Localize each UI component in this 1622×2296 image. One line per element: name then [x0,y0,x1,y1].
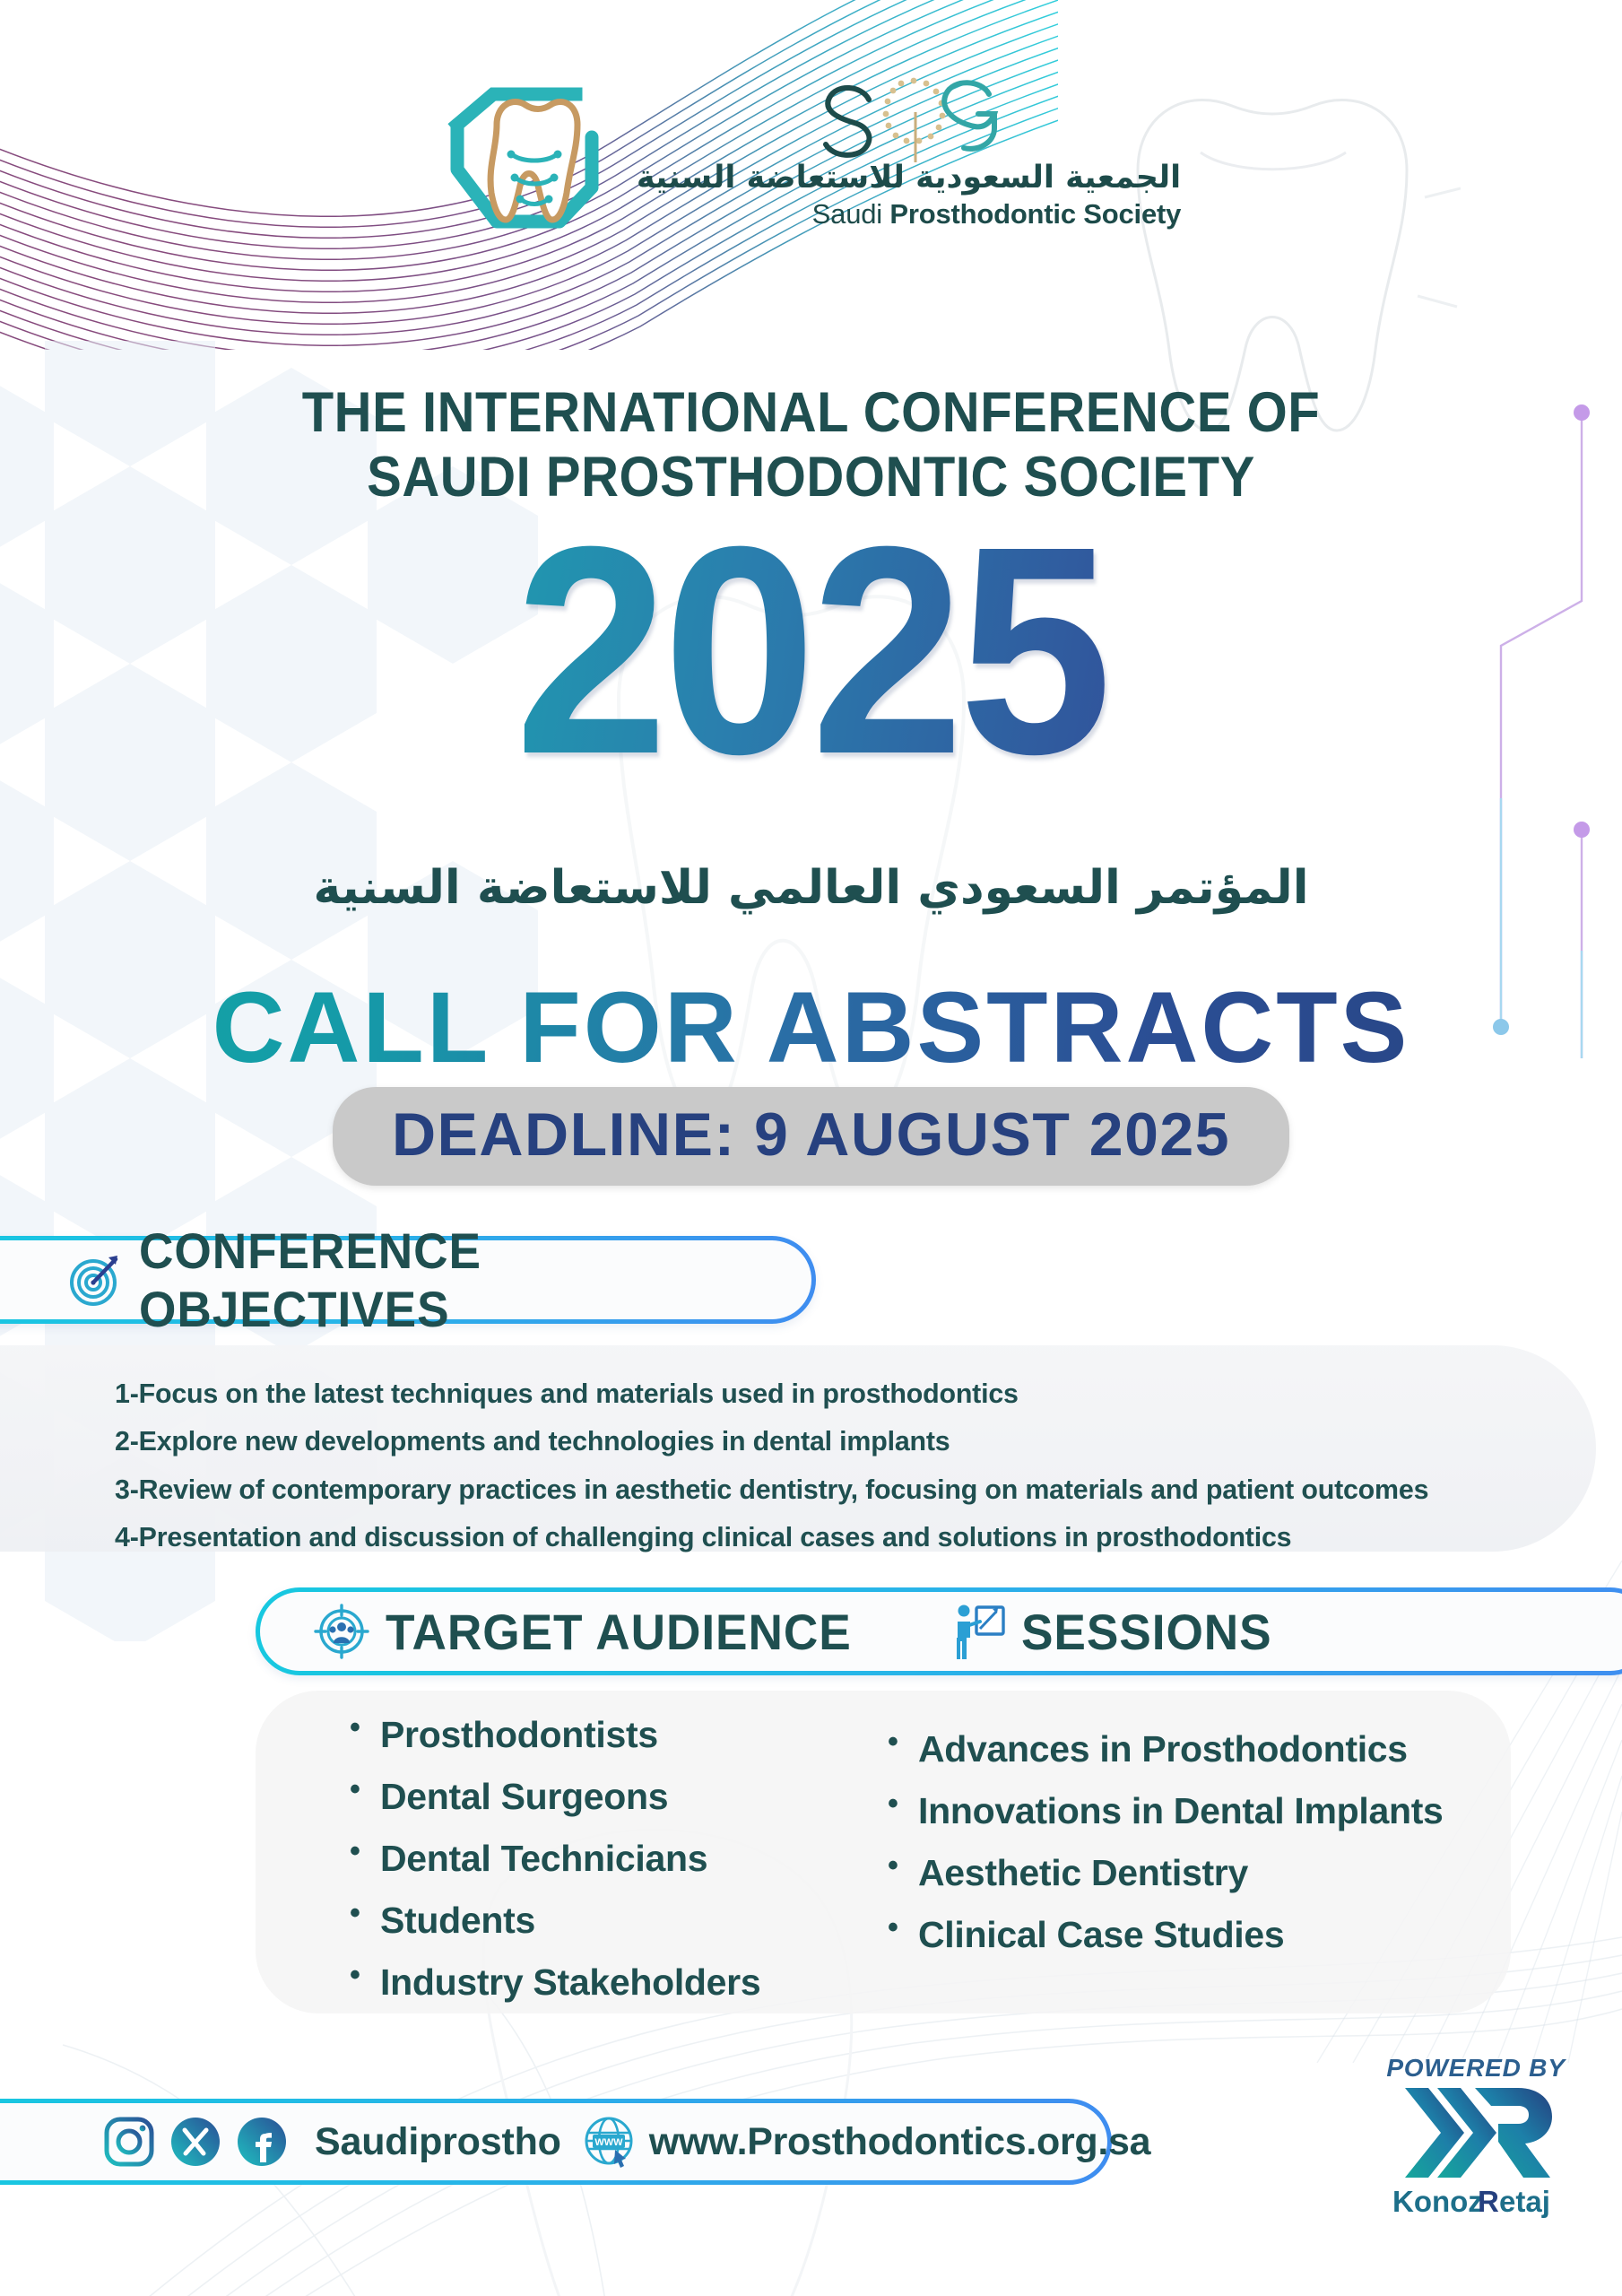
target-dart-icon [67,1252,123,1308]
www-globe-icon[interactable]: WWW [581,2114,637,2170]
deadline-wrap: DEADLINE: 9 AUGUST 2025 [0,1087,1622,1186]
svg-text:R: R [1478,2185,1499,2218]
objective-item: 3-Review of contemporary practices in ae… [115,1465,1521,1513]
audience-item: Students [350,1890,870,1952]
objectives-heading: CONFERENCE OBJECTIVES [139,1222,778,1338]
audience-item: Dental Surgeons [350,1766,870,1828]
objectives-list: 1-Focus on the latest techniques and mat… [115,1370,1549,1561]
session-item: Advances in Prosthodontics [888,1718,1551,1780]
logo-english-light: Saudi [812,198,890,230]
target-audience-list: Prosthodontists Dental Surgeons Dental T… [296,1704,870,2013]
konoz-retaj-chevron-r-icon [1398,2084,1555,2181]
conference-objectives-header: CONFERENCE OBJECTIVES [0,1236,816,1324]
sessions-list: Advances in Prosthodontics Innovations i… [870,1704,1551,2013]
logo-arabic-name: الجمعية السعودية للاستعاضة السنية [637,161,1181,196]
svg-text:WWW: WWW [594,2137,623,2148]
objective-item: 1-Focus on the latest techniques and mat… [115,1370,1521,1417]
deadline-badge: DEADLINE: 9 AUGUST 2025 [333,1087,1289,1186]
powered-by-block: POWERED BY Konoz R etaj [1382,2054,1570,2221]
audience-item: Prosthodontists [350,1704,870,1766]
x-twitter-icon[interactable] [169,2116,221,2168]
call-for-abstracts-heading: CALL FOR ABSTRACTS [0,978,1622,1078]
audience-sessions-header: TARGET AUDIENCE SESSIONS [256,1587,1622,1675]
footer-contact-bar: Saudiprostho WWW www.Prosthodontics.org.… [0,2099,1112,2185]
poster-canvas: الجمعية السعودية للاستعاضة السنية Saudi … [0,0,1622,2296]
logo-english-bold: Prosthodontic Society [889,198,1181,230]
sessions-heading: SESSIONS [1021,1603,1272,1661]
konoz-retaj-wordmark: Konoz R etaj [1391,2181,1561,2221]
audience-sessions-columns: Prosthodontists Dental Surgeons Dental T… [296,1704,1569,2013]
svg-text:etaj: etaj [1499,2185,1550,2218]
logo-english-name: Saudi Prosthodontic Society [812,197,1182,230]
session-item: Clinical Case Studies [888,1904,1551,1966]
target-people-icon [314,1604,369,1659]
tooth-shield-logo-icon [441,69,629,239]
audience-item: Dental Technicians [350,1828,870,1890]
powered-by-label: POWERED BY [1382,2054,1570,2083]
year-display: 2025 [56,502,1565,798]
facebook-icon[interactable] [236,2116,288,2168]
audience-item: Industry Stakeholders [350,1952,870,2013]
objective-item: 2-Explore new developments and technolog… [115,1417,1521,1465]
society-logo: الجمعية السعودية للاستعاضة السنية Saudi … [0,83,1622,226]
svg-text:Konoz: Konoz [1392,2185,1483,2218]
instagram-icon[interactable] [103,2116,155,2168]
arabic-headline: المؤتمر السعودي العالمي للاستعاضة السنية [0,861,1622,915]
audience-heading: TARGET AUDIENCE [386,1603,852,1661]
title-line-1: THE INTERNATIONAL CONFERENCE OF [65,381,1557,446]
session-item: Aesthetic Dentistry [888,1842,1551,1904]
session-item: Innovations in Dental Implants [888,1780,1551,1842]
sps-monogram-icon [810,73,1007,166]
website-url[interactable]: www.Prosthodontics.org.sa [649,2120,1151,2164]
presenter-board-icon [953,1602,1005,1661]
social-handle: Saudiprostho [315,2120,561,2164]
objective-item: 4-Presentation and discussion of challen… [115,1513,1521,1561]
